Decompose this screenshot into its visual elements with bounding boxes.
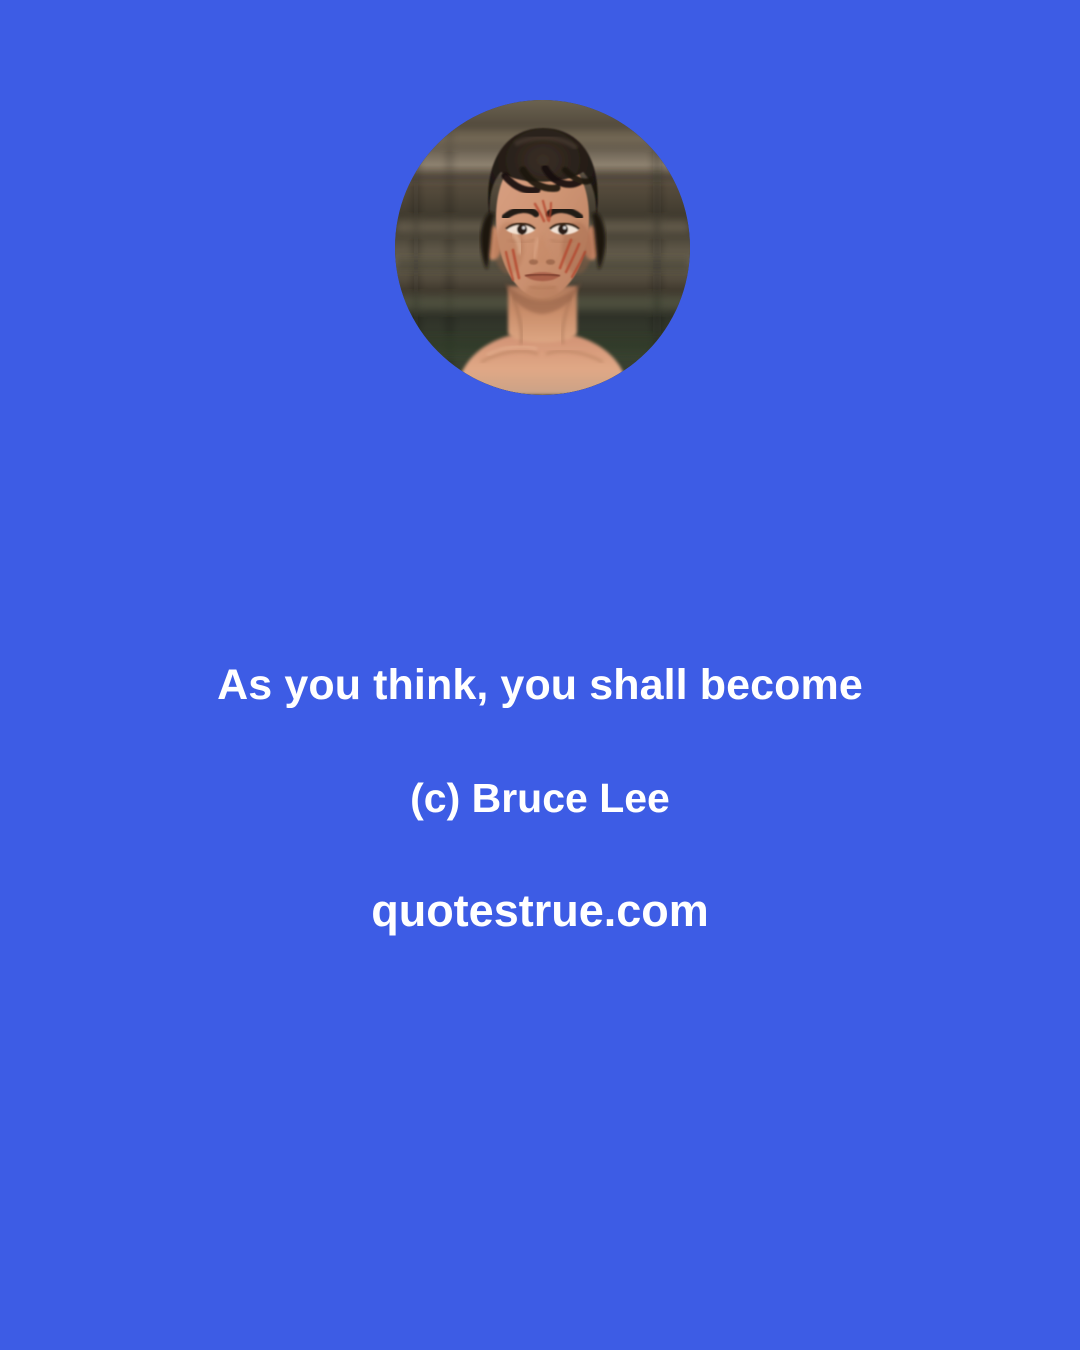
quote-author: (c) Bruce Lee — [0, 711, 1080, 822]
portrait-photo-bruce-lee — [395, 100, 690, 395]
quote-card: As you think, you shall become (c) Bruce… — [0, 0, 1080, 1350]
quote-text: As you think, you shall become — [0, 660, 1080, 711]
source-site: quotestrue.com — [0, 822, 1080, 937]
avatar — [395, 100, 690, 395]
quote-text-block: As you think, you shall become (c) Bruce… — [0, 660, 1080, 937]
